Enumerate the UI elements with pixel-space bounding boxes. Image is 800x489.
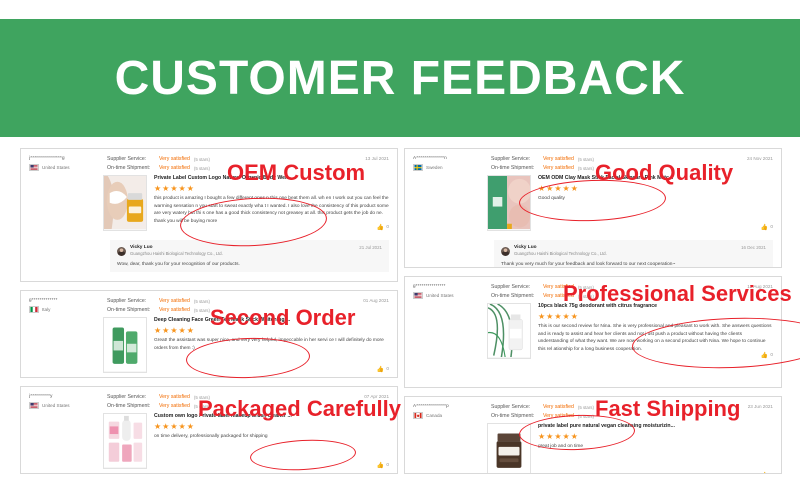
rating-block: Supplier Service: Very satisfied (5 star… — [107, 393, 210, 411]
reply-company: Guangzhou Haishi Biological Technology C… — [130, 251, 223, 257]
annotation-good-quality: Good Quality — [595, 160, 733, 186]
shipment-value: Very satisfied — [159, 306, 190, 315]
shipment-label: On-time Shipment: — [107, 164, 159, 173]
like-count: 0 — [770, 225, 773, 230]
supplier-service-label: Supplier Service: — [107, 155, 159, 164]
review-content: 10pcs black 75g deodorant with citrus fr… — [531, 303, 773, 359]
shipment-stars: (5 stars) — [578, 164, 594, 173]
thumbs-up-icon: 👍 — [377, 224, 384, 231]
buyer-country: United States — [29, 402, 103, 409]
buyer-info: g************* Italy — [29, 297, 103, 315]
flag-icon-us — [29, 402, 39, 409]
product-image-deodorant-stick — [488, 304, 530, 357]
country-label: Sweden — [426, 165, 443, 170]
country-label: United States — [42, 403, 70, 408]
like-counter[interactable]: 👍 0 — [377, 224, 389, 231]
shipment-stars: (5 stars) — [194, 306, 210, 315]
avatar — [501, 247, 510, 256]
page-header-banner: CUSTOMER FEEDBACK — [0, 19, 800, 137]
star-rating: ★★★★★ — [154, 422, 389, 431]
review-text: Good quality — [538, 195, 773, 203]
shipment-label: On-time Shipment: — [107, 306, 159, 315]
country-label: Canada — [426, 413, 442, 418]
buyer-country: Sweden — [413, 164, 487, 171]
shipment-label: On-time Shipment: — [107, 402, 159, 411]
supplier-service-label: Supplier Service: — [491, 155, 543, 164]
review-date: 13 Jul 2021 — [365, 156, 389, 161]
reply-header: Vicky Luo Guangzhou Haishi Biological Te… — [501, 245, 766, 257]
buyer-info: j****************g United States — [29, 155, 103, 173]
review-text: this product is amazing I bought a few d… — [154, 195, 389, 225]
annotation-professional-services: Professional Services — [563, 281, 792, 307]
product-title[interactable]: private label pure natural vegan cleansi… — [538, 423, 773, 429]
like-counter[interactable]: 👍 0 — [761, 352, 773, 359]
supplier-service-rating: Supplier Service: Very satisfied (5 star… — [491, 403, 594, 412]
country-label: United States — [42, 165, 70, 170]
supplier-service-stars: (5 stars) — [194, 155, 210, 164]
review-text: on time delivery, professionally package… — [154, 433, 389, 441]
review-date: 24 Nov 2021 — [747, 156, 773, 161]
shipment-label: On-time Shipment: — [491, 412, 543, 421]
shipment-label: On-time Shipment: — [491, 164, 543, 173]
product-thumbnail[interactable] — [487, 423, 531, 474]
thumbs-up-icon: 👍 — [761, 472, 768, 474]
like-count: 0 — [770, 473, 773, 474]
buyer-name: A**************n — [413, 155, 487, 160]
shipment-rating: On-time Shipment: Very satisfied (5 star… — [107, 402, 210, 411]
supplier-service-rating: Supplier Service: Very satisfied (5 star… — [107, 393, 210, 402]
shipment-rating: On-time Shipment: Very satisfied (5 star… — [491, 412, 594, 421]
product-image-clay-mask-stick — [488, 176, 530, 229]
star-rating: ★★★★★ — [538, 432, 773, 441]
review-body: 10pcs black 75g deodorant with citrus fr… — [405, 301, 781, 363]
buyer-name: j**********y — [29, 393, 103, 398]
buyer-info: A***************p Canada — [413, 403, 487, 421]
thumbs-up-icon: 👍 — [761, 352, 768, 359]
flag-icon-se — [413, 164, 423, 171]
reply-text: Wow, dear, thank you for your recognitio… — [117, 262, 382, 267]
thumbs-up-icon: 👍 — [761, 224, 768, 231]
supplier-service-stars: (5 stars) — [578, 155, 594, 164]
supplier-service-stars: (5 stars) — [194, 297, 210, 306]
reply-header: Vicky Luo Guangzhou Haishi Biological Te… — [117, 245, 382, 257]
product-image-brush-cleaner — [104, 414, 146, 467]
annotation-packaged-carefully: Packaged Carefully — [198, 396, 401, 422]
star-rating: ★★★★★ — [538, 312, 773, 321]
shipment-rating: On-time Shipment: Very satisfied (5 star… — [107, 306, 210, 315]
review-content: private label pure natural vegan cleansi… — [531, 423, 773, 474]
supplier-service-value: Very satisfied — [159, 297, 190, 306]
review-text: great job and on time — [538, 443, 773, 451]
review-card-grid: 13 Jul 2021 j****************g United St… — [0, 140, 800, 489]
product-image-cleansing-moisturizer-jar — [488, 424, 530, 474]
product-thumbnail[interactable] — [103, 175, 147, 231]
supplier-service-label: Supplier Service: — [491, 283, 543, 292]
buyer-name: A***************p — [413, 403, 487, 408]
product-thumbnail[interactable] — [487, 303, 531, 359]
country-label: United States — [426, 293, 454, 298]
review-card-second-order[interactable]: 01 Aug 2021 g************* Italy Supplie… — [20, 290, 398, 378]
rating-block: Supplier Service: Very satisfied (5 star… — [491, 155, 594, 173]
annotation-oem-custom: OEM Custom — [227, 160, 365, 186]
like-count: 0 — [386, 463, 389, 468]
shipment-label: On-time Shipment: — [491, 292, 543, 301]
like-counter[interactable]: 👍 0 — [377, 366, 389, 373]
supplier-service-label: Supplier Service: — [107, 393, 159, 402]
avatar — [117, 247, 126, 256]
supplier-service-rating: Supplier Service: Very satisfied (5 star… — [107, 155, 210, 164]
thumbs-up-icon: 👍 — [377, 462, 384, 469]
supplier-service-value: Very satisfied — [159, 393, 190, 402]
product-thumbnail[interactable] — [103, 317, 147, 373]
buyer-country: United States — [29, 164, 103, 171]
supplier-service-value: Very satisfied — [543, 403, 574, 412]
reply-text: Thank you very much for your feedback an… — [501, 262, 766, 267]
shipment-stars: (5 stars) — [578, 412, 594, 421]
buyer-info: A**************n Sweden — [413, 155, 487, 173]
supplier-service-value: Very satisfied — [159, 155, 190, 164]
like-count: 0 — [386, 225, 389, 230]
like-count: 0 — [386, 367, 389, 372]
flag-icon-us — [29, 164, 39, 171]
supplier-reply: 16 Dec 2021 Vicky Luo Guangzhou Haishi B… — [494, 240, 773, 268]
like-counter[interactable]: 👍 0 — [761, 472, 773, 474]
like-count: 0 — [770, 353, 773, 358]
supplier-reply: 21 Jul 2021 Vicky Luo Guangzhou Haishi B… — [110, 240, 389, 272]
review-text: Great! the assistant was super nice, and… — [154, 337, 389, 352]
reply-company: Guangzhou Haishi Biological Technology C… — [514, 251, 607, 257]
annotation-second-order: Second Order — [210, 305, 355, 331]
page-title: CUSTOMER FEEDBACK — [115, 51, 686, 106]
product-image-body-gel — [104, 176, 146, 229]
annotation-fast-shipping: Fast Shipping — [595, 396, 740, 422]
supplier-service-value: Very satisfied — [543, 155, 574, 164]
rating-block: Supplier Service: Very satisfied (5 star… — [107, 155, 210, 173]
shipment-value: Very satisfied — [159, 164, 190, 173]
supplier-service-label: Supplier Service: — [107, 297, 159, 306]
flag-icon-us — [413, 292, 423, 299]
thumbs-up-icon: 👍 — [377, 366, 384, 373]
supplier-service-stars: (5 stars) — [578, 403, 594, 412]
review-text: This is our second review for Nina. She … — [538, 323, 773, 353]
review-date: 23 Jun 2021 — [748, 404, 773, 409]
like-counter[interactable]: 👍 0 — [761, 224, 773, 231]
buyer-name: g************* — [29, 297, 103, 302]
buyer-country: Canada — [413, 412, 487, 419]
review-date: 01 Aug 2021 — [363, 298, 389, 303]
supplier-service-rating: Supplier Service: Very satisfied (5 star… — [107, 297, 210, 306]
country-label: Italy — [42, 307, 50, 312]
rating-block: Supplier Service: Very satisfied (5 star… — [107, 297, 210, 315]
supplier-service-label: Supplier Service: — [491, 403, 543, 412]
shipment-rating: On-time Shipment: Very satisfied (5 star… — [107, 164, 210, 173]
reply-date: 21 Jul 2021 — [359, 245, 382, 250]
buyer-country: Italy — [29, 306, 103, 313]
buyer-info: j**********y United States — [29, 393, 103, 411]
shipment-value: Very satisfied — [159, 402, 190, 411]
product-image-green-tea-mask-stick — [104, 318, 146, 371]
flag-icon-it — [29, 306, 39, 313]
supplier-service-rating: Supplier Service: Very satisfied (5 star… — [491, 155, 594, 164]
buyer-country: United States — [413, 292, 487, 299]
shipment-stars: (5 stars) — [194, 164, 210, 173]
product-thumbnail[interactable] — [487, 175, 531, 231]
flag-icon-ca — [413, 412, 423, 419]
shipment-value: Very satisfied — [543, 164, 574, 173]
product-thumbnail[interactable] — [103, 413, 147, 469]
review-body: private label pure natural vegan cleansi… — [405, 421, 781, 474]
reply-date: 16 Dec 2021 — [741, 245, 766, 250]
shipment-value: Very satisfied — [543, 412, 574, 421]
buyer-name: g*************** — [413, 283, 487, 288]
rating-block: Supplier Service: Very satisfied (5 star… — [491, 403, 594, 421]
shipment-rating: On-time Shipment: Very satisfied (5 star… — [491, 164, 594, 173]
buyer-name: j****************g — [29, 155, 103, 160]
buyer-info: g*************** United States — [413, 283, 487, 301]
like-counter[interactable]: 👍 0 — [377, 462, 389, 469]
